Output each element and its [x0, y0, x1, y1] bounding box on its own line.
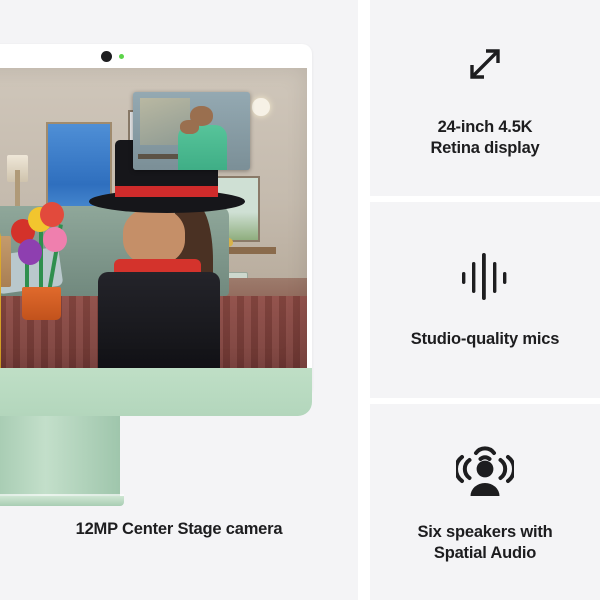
camera-lens-icon [101, 51, 112, 62]
imac-screen [0, 68, 307, 368]
child-cape [98, 272, 220, 368]
flower-bloom [40, 202, 64, 227]
flower-bloom [18, 239, 42, 264]
feature-card-mics[interactable]: Studio-quality mics [370, 202, 600, 398]
scene-paper-flowers [7, 194, 77, 320]
facetime-scene [0, 68, 307, 368]
imac-stand-neck [0, 416, 120, 500]
label-line-1: 24-inch 4.5K [430, 117, 539, 138]
label-line-1: Studio-quality mics [411, 329, 559, 350]
woman-shirt [0, 217, 1, 368]
imac-top-bezel [0, 44, 312, 68]
spatial-audio-person-icon [456, 440, 514, 496]
camera-feature-panel: 12MP Center Stage camera [0, 0, 358, 600]
label-line-2: Spatial Audio [417, 543, 552, 564]
imac-stand-foot [0, 496, 124, 506]
scene-child-magician [89, 140, 245, 368]
feature-grid-page: 12MP Center Stage camera 24-inch 4.5K Re… [0, 0, 600, 600]
flower-pot [22, 287, 61, 320]
imac-display-body [0, 44, 312, 392]
imac-chin-bezel [0, 368, 312, 416]
scene-wall-lamp [252, 98, 270, 116]
feature-card-display-label: 24-inch 4.5K Retina display [430, 117, 539, 159]
feature-card-display[interactable]: 24-inch 4.5K Retina display [370, 0, 600, 196]
label-line-1: Six speakers with [417, 522, 552, 543]
camera-indicator-led-icon [119, 54, 124, 59]
audio-waveform-icon [460, 249, 510, 303]
top-hat-band [115, 186, 218, 197]
child-face [123, 208, 185, 265]
feature-card-speakers-label: Six speakers with Spatial Audio [417, 522, 552, 564]
label-line-2: Retina display [430, 138, 539, 159]
camera-feature-caption: 12MP Center Stage camera [0, 520, 358, 539]
facetime-pip-window [133, 92, 250, 170]
flower-bloom [43, 227, 67, 252]
feature-card-mics-label: Studio-quality mics [411, 329, 559, 350]
imac-device [0, 44, 312, 484]
expand-arrows-icon [458, 37, 512, 91]
pip-person-hand [180, 120, 199, 134]
feature-card-speakers[interactable]: Six speakers with Spatial Audio [370, 404, 600, 600]
